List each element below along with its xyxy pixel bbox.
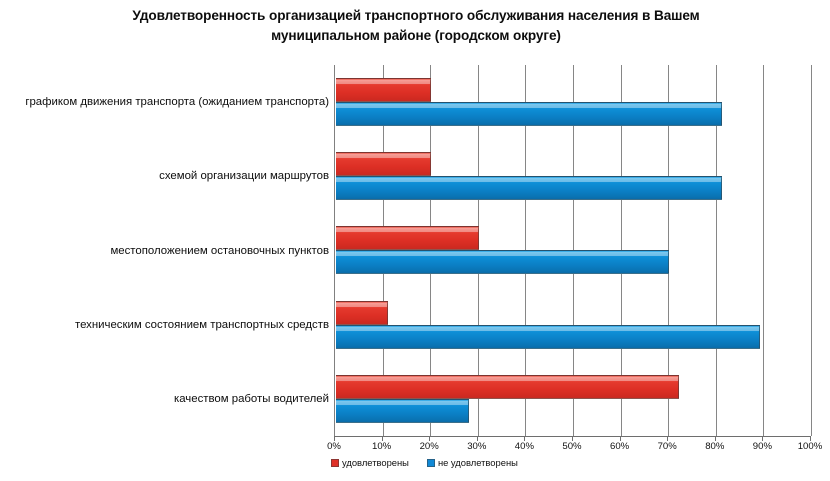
category-label: местоположением остановочных пунктов	[3, 244, 329, 258]
bar-slot	[335, 152, 811, 176]
chart-legend: удовлетвореныне удовлетворены	[331, 457, 518, 468]
bar-satisfied[interactable]	[336, 226, 479, 250]
x-tick-label: 40%	[504, 441, 544, 452]
category-label: графиком движения транспорта (ожиданием …	[3, 95, 329, 109]
bar-highlight	[336, 80, 430, 84]
bar-slot	[335, 301, 811, 325]
bar-chart: Удовлетворенность организацией транспорт…	[0, 0, 830, 481]
chart-title: Удовлетворенность организацией транспорт…	[85, 6, 747, 46]
bar-slot	[335, 176, 811, 200]
bar-rows	[335, 65, 811, 436]
plot-area	[334, 65, 812, 436]
x-tick-label: 80%	[695, 441, 735, 452]
category-label: техническим состоянием транспортных сред…	[3, 318, 329, 332]
bar-satisfied[interactable]	[336, 301, 388, 325]
bar-satisfied[interactable]	[336, 375, 679, 399]
bar-group	[335, 65, 811, 139]
x-tick-label: 20%	[409, 441, 449, 452]
x-tick-label: 70%	[647, 441, 687, 452]
legend-swatch-icon	[427, 459, 435, 467]
bar-slot	[335, 102, 811, 126]
bar-highlight	[336, 327, 759, 331]
bar-highlight	[336, 303, 387, 307]
legend-swatch-icon	[331, 459, 339, 467]
bar-unsatisfied[interactable]	[336, 250, 669, 274]
bar-slot	[335, 375, 811, 399]
bar-highlight	[336, 252, 668, 256]
bar-group	[335, 213, 811, 287]
bar-group	[335, 362, 811, 436]
x-tick-label: 90%	[742, 441, 782, 452]
bar-unsatisfied[interactable]	[336, 399, 469, 423]
x-tick-label: 30%	[457, 441, 497, 452]
bar-highlight	[336, 401, 468, 405]
chart-title-line-1: Удовлетворенность организацией транспорт…	[132, 8, 699, 23]
bar-slot	[335, 78, 811, 102]
category-label: схемой организации маршрутов	[3, 169, 329, 183]
x-tick-label: 0%	[314, 441, 354, 452]
category-label: качеством работы водителей	[3, 392, 329, 406]
x-tick-label: 100%	[790, 441, 830, 452]
bar-unsatisfied[interactable]	[336, 176, 722, 200]
bar-slot	[335, 250, 811, 274]
bar-slot	[335, 226, 811, 250]
legend-label: удовлетворены	[342, 457, 409, 468]
x-tick-label: 50%	[552, 441, 592, 452]
bar-group	[335, 139, 811, 213]
x-tick-label: 10%	[362, 441, 402, 452]
bar-unsatisfied[interactable]	[336, 102, 722, 126]
bar-highlight	[336, 228, 478, 232]
bar-unsatisfied[interactable]	[336, 325, 760, 349]
x-tick-label: 60%	[600, 441, 640, 452]
legend-item[interactable]: удовлетворены	[331, 457, 409, 468]
chart-title-line-2: муниципальном районе (городском округе)	[85, 26, 747, 46]
bar-slot	[335, 325, 811, 349]
bar-slot	[335, 399, 811, 423]
bar-highlight	[336, 377, 678, 381]
bar-group	[335, 288, 811, 362]
bar-highlight	[336, 178, 721, 182]
bar-satisfied[interactable]	[336, 78, 431, 102]
bar-satisfied[interactable]	[336, 152, 431, 176]
legend-label: не удовлетворены	[438, 457, 518, 468]
bar-highlight	[336, 154, 430, 158]
legend-item[interactable]: не удовлетворены	[427, 457, 518, 468]
bar-highlight	[336, 104, 721, 108]
